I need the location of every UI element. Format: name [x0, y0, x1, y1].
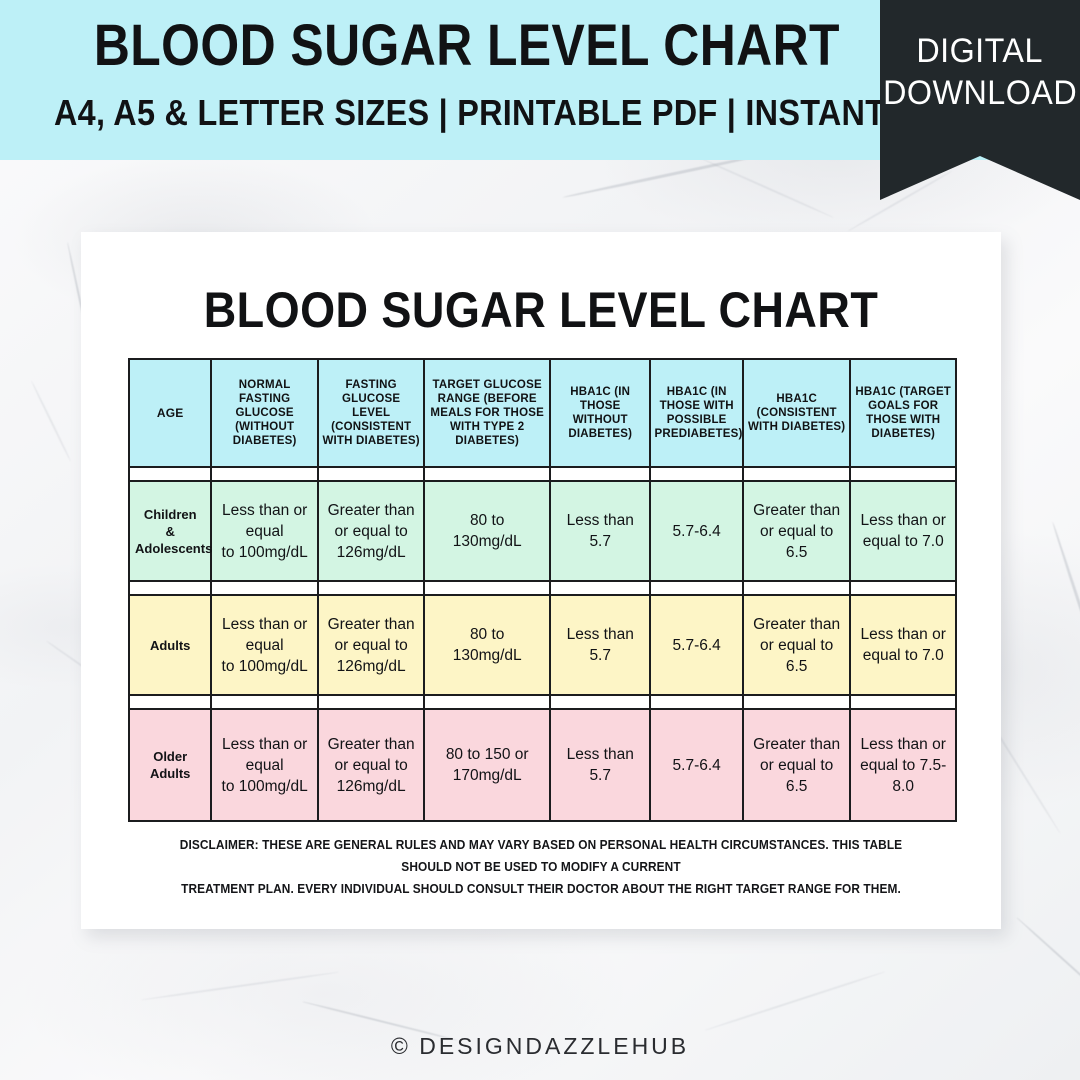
text-line: 126mg/dL [337, 658, 406, 675]
text-line: 8.0 [892, 778, 914, 795]
spacer-cell [424, 695, 550, 709]
spacer-cell [650, 581, 742, 595]
cell-hba1c-diabetes: Greater than or equal to 6.5 [743, 709, 851, 821]
text-line: Greater than [753, 502, 840, 519]
cell-normal-fasting-glucose: Less than or equal to 100mg/dL [211, 595, 318, 695]
cell-target-glucose-range: 80 to 130mg/dL [424, 595, 550, 695]
spacer-cell [743, 467, 851, 481]
text-line: equal [246, 523, 284, 540]
text-line: or equal to 6.5 [760, 523, 833, 561]
text-line: 80 to 150 or [446, 746, 529, 763]
spacer-cell [211, 581, 318, 595]
spacer-cell [550, 467, 650, 481]
header-hba1c-without-diabetes: HBA1C (IN THOSE WITHOUT DIABETES) [550, 359, 650, 467]
cell-hba1c-prediabetes: 5.7-6.4 [650, 595, 742, 695]
cell-hba1c-prediabetes: 5.7-6.4 [650, 709, 742, 821]
text-line: 130mg/dL [453, 647, 522, 664]
text-line: 80 to [470, 626, 504, 643]
cell-normal-fasting-glucose: Less than or equal to 100mg/dL [211, 709, 318, 821]
text-line: Greater than [328, 616, 415, 633]
cell-hba1c-diabetes: Greater than or equal to 6.5 [743, 481, 851, 581]
disclaimer-line-1: DISCLAIMER: THESE ARE GENERAL RULES AND … [161, 834, 921, 878]
text-line: Greater than [753, 736, 840, 753]
text-line: equal to 7.0 [863, 647, 944, 664]
spacer-cell [743, 695, 851, 709]
cell-fasting-glucose-diabetes: Greater than or equal to 126mg/dL [318, 709, 425, 821]
ribbon-line-2: DOWNLOAD [883, 72, 1077, 114]
table-header-row: AGE NORMAL FASTING GLUCOSE (WITHOUT DIAB… [129, 359, 956, 467]
table-row: Children & Adolescents Less than or equa… [129, 481, 956, 581]
cell-hba1c-target-goals: Less than or equal to 7.0 [850, 481, 956, 581]
header-hba1c-target-goals: HBA1C (TARGET GOALS FOR THOSE WITH DIABE… [850, 359, 956, 467]
text-line: equal to 7.5- [860, 757, 946, 774]
cell-hba1c-prediabetes: 5.7-6.4 [650, 481, 742, 581]
header-target-glucose-range: TARGET GLUCOSE RANGE (BEFORE MEALS FOR T… [424, 359, 550, 467]
spacer-cell [850, 581, 956, 595]
cell-hba1c-diabetes: Greater than or equal to 6.5 [743, 595, 851, 695]
text-line: Less than or [222, 616, 307, 633]
text-line: Less than or [861, 736, 946, 753]
text-line: or equal to [335, 523, 408, 540]
text-line: Less than or [222, 502, 307, 519]
listing-image: BLOOD SUGAR LEVEL CHART A4, A5 & LETTER … [0, 0, 1080, 1080]
text-line: Less than or [861, 626, 946, 643]
spacer-cell [850, 467, 956, 481]
text-line: Greater than [328, 502, 415, 519]
spacer-cell [550, 695, 650, 709]
text-line: equal [246, 757, 284, 774]
spacer-cell [129, 581, 211, 595]
cell-fasting-glucose-diabetes: Greater than or equal to 126mg/dL [318, 481, 425, 581]
ribbon-line-1: DIGITAL [917, 30, 1044, 72]
text-line: 126mg/dL [337, 544, 406, 561]
text-line: 80 to [470, 512, 504, 529]
cell-age: Older Adults [129, 709, 211, 821]
cell-hba1c-target-goals: Less than or equal to 7.5- 8.0 [850, 709, 956, 821]
table-spacer-row [129, 695, 956, 709]
watermark-text: DESIGNDAZZLEHUB [419, 1033, 689, 1059]
cell-hba1c-without-diabetes: Less than 5.7 [550, 595, 650, 695]
cell-fasting-glucose-diabetes: Greater than or equal to 126mg/dL [318, 595, 425, 695]
printable-card: BLOOD SUGAR LEVEL CHART AGE NORMAL FASTI… [81, 232, 1001, 929]
blood-sugar-table-wrapper: AGE NORMAL FASTING GLUCOSE (WITHOUT DIAB… [128, 358, 957, 822]
text-line: or equal to [335, 637, 408, 654]
header-normal-fasting-glucose: NORMAL FASTING GLUCOSE (WITHOUT DIABETES… [211, 359, 318, 467]
spacer-cell [650, 467, 742, 481]
text-line: or equal to 6.5 [760, 637, 833, 675]
spacer-cell [211, 695, 318, 709]
cell-age: Adults [129, 595, 211, 695]
spacer-cell [424, 581, 550, 595]
spacer-cell [129, 695, 211, 709]
text-line: 126mg/dL [337, 778, 406, 795]
watermark: © DESIGNDAZZLEHUB [0, 1032, 1080, 1060]
copyright-icon: © [391, 1033, 410, 1059]
header-age: AGE [129, 359, 211, 467]
spacer-cell [743, 581, 851, 595]
spacer-cell [318, 695, 425, 709]
text-line: or equal to [335, 757, 408, 774]
spacer-cell [850, 695, 956, 709]
cell-target-glucose-range: 80 to 150 or 170mg/dL [424, 709, 550, 821]
text-line: Less than or [861, 512, 946, 529]
disclaimer-text: DISCLAIMER: THESE ARE GENERAL RULES AND … [161, 834, 921, 900]
spacer-cell [318, 581, 425, 595]
spacer-cell [650, 695, 742, 709]
text-line: or equal to 6.5 [760, 757, 833, 795]
header-fasting-glucose-diabetes: FASTING GLUCOSE LEVEL (CONSISTENT WITH D… [318, 359, 425, 467]
page-title: BLOOD SUGAR LEVEL CHART [127, 282, 955, 338]
age-line-2: & Adolescents [135, 524, 212, 556]
blood-sugar-table: AGE NORMAL FASTING GLUCOSE (WITHOUT DIAB… [128, 358, 957, 822]
text-line: to 100mg/dL [222, 778, 308, 795]
table-row: Adults Less than or equal to 100mg/dL Gr… [129, 595, 956, 695]
disclaimer-line-2: TREATMENT PLAN. EVERY INDIVIDUAL SHOULD … [161, 878, 921, 900]
text-line: 170mg/dL [453, 767, 522, 784]
text-line: 130mg/dL [453, 533, 522, 550]
text-line: Less than or [222, 736, 307, 753]
cell-normal-fasting-glucose: Less than or equal to 100mg/dL [211, 481, 318, 581]
text-line: to 100mg/dL [222, 544, 308, 561]
header-hba1c-diabetes: HBA1C (CONSISTENT WITH DIABETES) [743, 359, 851, 467]
spacer-cell [129, 467, 211, 481]
cell-hba1c-without-diabetes: Less than 5.7 [550, 481, 650, 581]
table-spacer-row [129, 467, 956, 481]
text-line: equal to 7.0 [863, 533, 944, 550]
spacer-cell [424, 467, 550, 481]
table-spacer-row [129, 581, 956, 595]
cell-hba1c-target-goals: Less than or equal to 7.0 [850, 595, 956, 695]
spacer-cell [550, 581, 650, 595]
header-hba1c-prediabetes: HBA1C (IN THOSE WITH POSSIBLE PREDIABETE… [650, 359, 742, 467]
text-line: to 100mg/dL [222, 658, 308, 675]
text-line: Greater than [328, 736, 415, 753]
banner-title: BLOOD SUGAR LEVEL CHART [76, 14, 1005, 78]
cell-target-glucose-range: 80 to 130mg/dL [424, 481, 550, 581]
spacer-cell [318, 467, 425, 481]
table-row: Older Adults Less than or equal to 100mg… [129, 709, 956, 821]
cell-age: Children & Adolescents [129, 481, 211, 581]
spacer-cell [211, 467, 318, 481]
cell-hba1c-without-diabetes: Less than 5.7 [550, 709, 650, 821]
text-line: equal [246, 637, 284, 654]
age-line-1: Children [144, 507, 197, 522]
text-line: Greater than [753, 616, 840, 633]
